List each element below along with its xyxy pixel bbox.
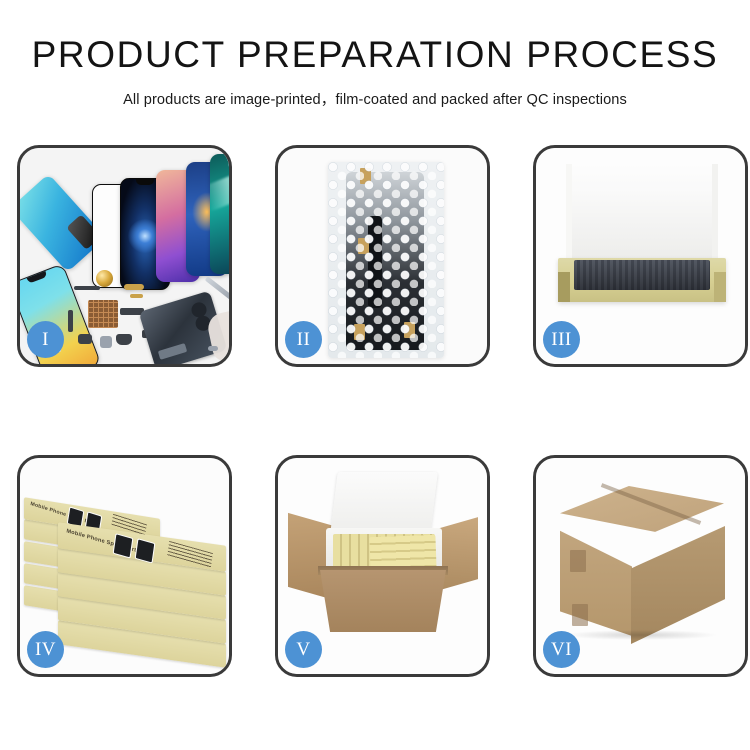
process-step-4[interactable]: Mobile Phone Spare Parts Mobile Phone Sp…: [17, 455, 232, 677]
process-step-6[interactable]: VI: [533, 455, 748, 677]
step-number-badge: III: [543, 321, 580, 358]
gold-clip-part: [130, 294, 143, 298]
carton-shadow: [566, 630, 716, 640]
bubble-wrapped-contents: [574, 260, 710, 290]
carton-front-panel: [320, 570, 446, 632]
page-title: PRODUCT PREPARATION PROCESS: [0, 36, 750, 75]
flex-cable-part: [74, 286, 100, 290]
step-number-badge: II: [285, 321, 322, 358]
page-subtitle: All products are image-printed，film-coat…: [0, 88, 750, 109]
carton-tape-upper: [570, 550, 586, 572]
process-step-3[interactable]: III: [533, 145, 748, 367]
process-step-5[interactable]: V: [275, 455, 490, 677]
screw-grid-part: [88, 300, 118, 328]
foam-sheet: [572, 188, 712, 264]
gold-connector-part: [124, 284, 144, 290]
step-number-badge: IV: [27, 631, 64, 668]
carton-tape-lower: [572, 604, 588, 626]
antenna-strip-part: [68, 310, 73, 332]
speaker-part: [100, 336, 112, 348]
taptic-engine-part: [116, 334, 132, 345]
box-edge-right: [714, 272, 726, 302]
step-number-badge: VI: [543, 631, 580, 668]
box-label-spec-lines: [167, 541, 213, 569]
process-step-1[interactable]: I: [17, 145, 232, 367]
vibration-motor-part: [96, 270, 113, 287]
process-step-grid: I II III: [17, 145, 733, 677]
page-header: PRODUCT PREPARATION PROCESS All products…: [0, 0, 750, 109]
camera-module-part: [78, 334, 92, 344]
box-label-phone-image: [113, 533, 134, 558]
phone-green: [210, 154, 229, 274]
box-edge-left: [558, 272, 570, 302]
step-number-badge: V: [285, 631, 322, 668]
foam-cooler-lid: [330, 472, 438, 534]
step-number-badge: I: [27, 321, 64, 358]
process-step-2[interactable]: II: [275, 145, 490, 367]
bubble-wrap-bag: [328, 162, 444, 358]
small-screw-part: [208, 346, 218, 351]
